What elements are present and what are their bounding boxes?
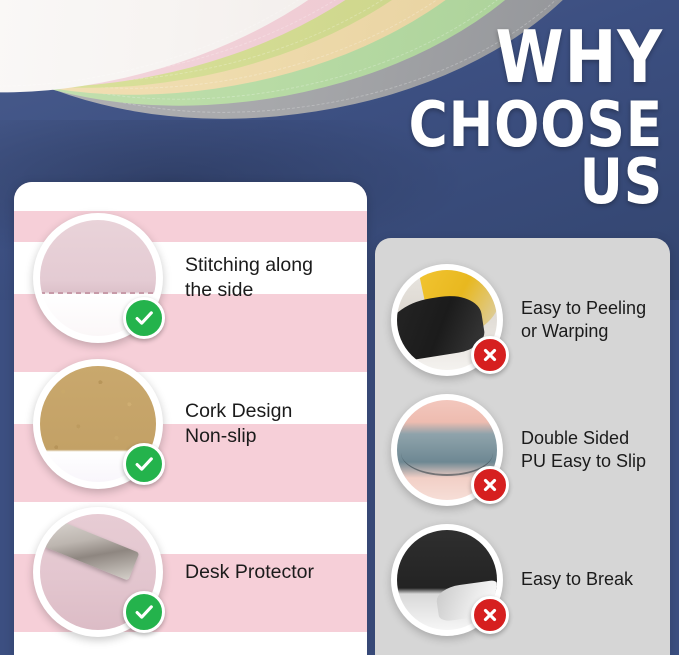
cons-thumb-3 (391, 524, 503, 636)
cons-label-2-line-2: PU Easy to Slip (521, 450, 646, 473)
pros-thumb-1 (33, 213, 163, 343)
pros-row-1: Stitching along the side (33, 212, 367, 344)
cons-label-3: Easy to Break (521, 568, 633, 591)
headline: WHY CHOOSE US (363, 24, 663, 210)
cons-label-3-line-1: Easy to Break (521, 568, 633, 591)
cons-label-2-line-1: Double Sided (521, 427, 646, 450)
cons-thumb-2 (391, 394, 503, 506)
headline-line-1: WHY (405, 24, 663, 90)
pros-row-3: Desk Protector (33, 506, 367, 638)
pros-label-2: Cork Design Non-slip (185, 399, 292, 449)
cons-label-2: Double Sided PU Easy to Slip (521, 427, 646, 473)
pros-label-2-line-2: Non-slip (185, 424, 292, 449)
pros-thumb-3 (33, 507, 163, 637)
cons-row-2: Double Sided PU Easy to Slip (391, 390, 670, 510)
cons-label-1: Easy to Peeling or Warping (521, 297, 646, 343)
cons-label-1-line-2: or Warping (521, 320, 646, 343)
pros-label-1-line-1: Stitching along (185, 253, 313, 278)
check-icon (123, 591, 165, 633)
cons-thumb-1 (391, 264, 503, 376)
headline-line-2: CHOOSE US (405, 96, 663, 210)
cons-row-3: Easy to Break (391, 520, 670, 640)
comparison-infographic: WHY CHOOSE US Stitching along the side (0, 0, 679, 655)
pros-label-3: Desk Protector (185, 560, 314, 585)
cross-icon (471, 466, 509, 504)
cross-icon (471, 596, 509, 634)
check-icon (123, 443, 165, 485)
cons-card: Easy to Peeling or Warping Double Sided … (375, 238, 670, 655)
pros-row-2: Cork Design Non-slip (33, 358, 367, 490)
cons-label-1-line-1: Easy to Peeling (521, 297, 646, 320)
pros-label-1: Stitching along the side (185, 253, 313, 303)
cross-icon (471, 336, 509, 374)
pros-label-1-line-2: the side (185, 278, 313, 303)
pros-thumb-2 (33, 359, 163, 489)
pros-label-3-line-1: Desk Protector (185, 560, 314, 585)
cons-row-1: Easy to Peeling or Warping (391, 260, 670, 380)
pros-card: Stitching along the side Cork Design Non… (14, 182, 367, 655)
check-icon (123, 297, 165, 339)
pros-label-2-line-1: Cork Design (185, 399, 292, 424)
